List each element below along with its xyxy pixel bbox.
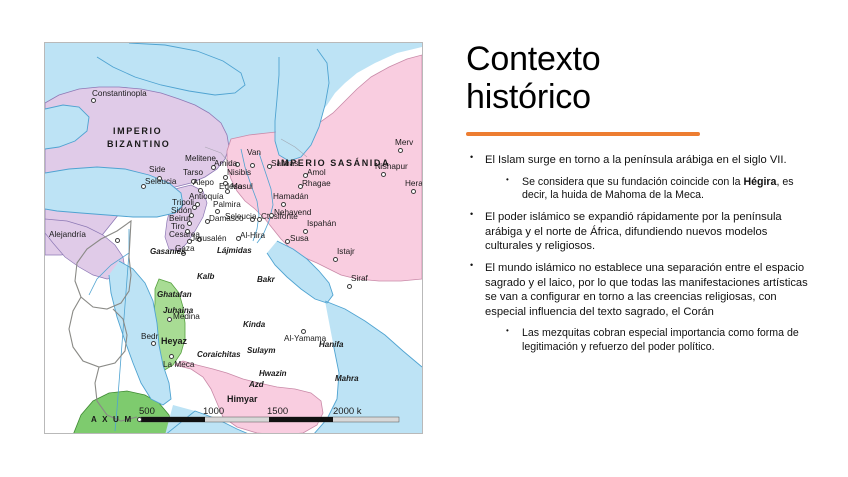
bullet-item-4: El mundo islámico no establece una separ…	[466, 261, 812, 319]
title-accent-rule	[466, 132, 700, 136]
bullet-item-5: Las mezquitas cobran especial importanci…	[502, 327, 812, 355]
page-title-line1: Contexto	[466, 40, 812, 78]
slide-content: Contexto histórico El Islam surge en tor…	[466, 40, 812, 362]
bullet-2-text-before: Se considera que su fundación coincide c…	[522, 176, 743, 188]
page-title-line2: histórico	[466, 78, 812, 116]
map-canvas	[45, 43, 422, 433]
page-title: Contexto histórico	[466, 40, 812, 116]
bullet-2-bold-term: Hégira	[743, 176, 776, 188]
bullet-item-2: Se considera que su fundación coincide c…	[502, 176, 812, 204]
bullet-list: El Islam surge en torno a la península a…	[466, 153, 812, 355]
bullet-item-1: El Islam surge en torno a la península a…	[466, 153, 812, 167]
bullet-item-3: El poder islámico se expandió rápidament…	[466, 210, 812, 253]
slide: IMPERIO BIZANTINO IMPERIO SASÁNIDA Const…	[0, 0, 848, 477]
scale-bar	[141, 417, 399, 422]
map-vector	[45, 43, 422, 433]
historical-map: IMPERIO BIZANTINO IMPERIO SASÁNIDA Const…	[44, 42, 423, 434]
